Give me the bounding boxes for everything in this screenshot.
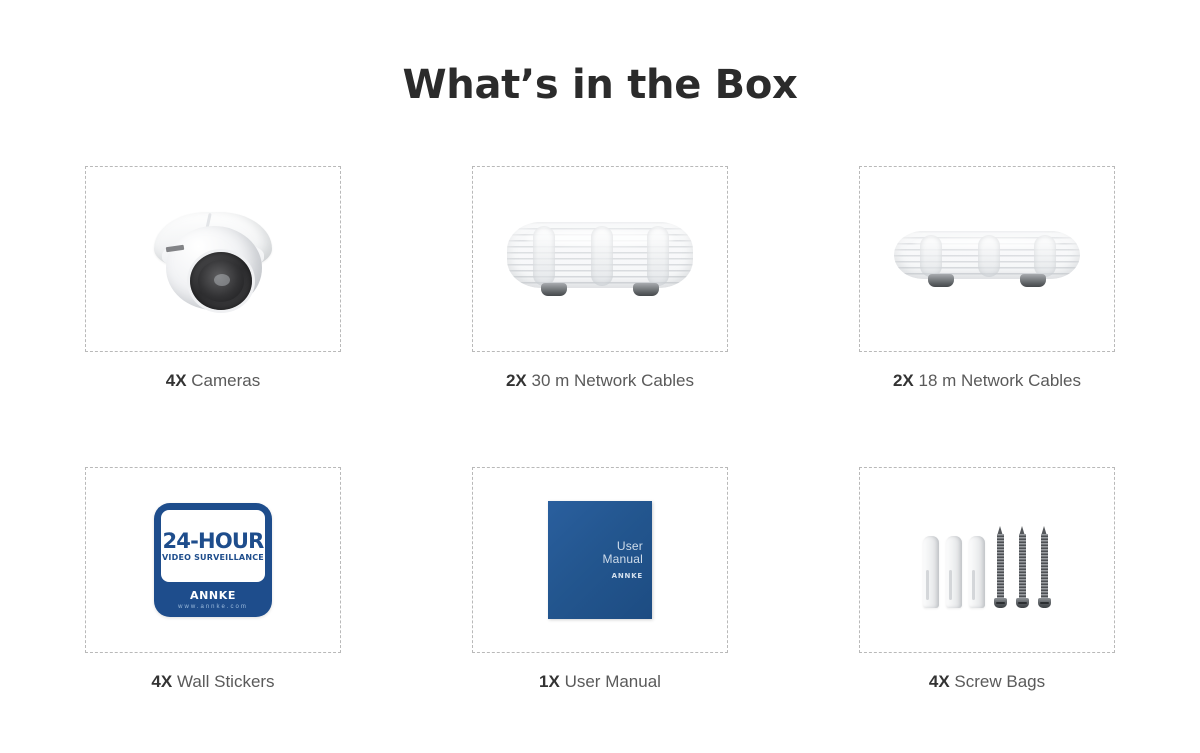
sticker-white-panel: 24-HOUR VIDEO SURVEILLANCE [161,510,265,582]
item-image-box-30m-cables [472,166,728,352]
camera-lens-ring [190,252,252,310]
sticker-footer-band: ANNKE www.annke.com [161,582,265,617]
item-quantity: 4X [929,672,950,691]
screws-and-anchors-icon [923,512,1051,608]
manual-title-line-1: User [617,540,643,553]
item-cell-cameras: 4X Cameras [84,166,342,391]
dome-camera-icon [148,200,278,318]
screw [1038,526,1051,608]
item-cell-user-manual: User Manual ANNKE 1X User Manual [471,467,729,692]
item-image-box-user-manual: User Manual ANNKE [472,467,728,653]
item-quantity: 2X [893,371,914,390]
camera-lens-inner [198,260,244,302]
screw-shaft [1019,534,1026,599]
wall-anchor [969,536,985,608]
screw-head [1016,598,1029,608]
sticker-subhead: VIDEO SURVEILLANCE [162,554,264,562]
user-manual-booklet-icon: User Manual ANNKE [548,501,652,619]
item-label: 30 m Network Cables [532,371,695,390]
network-cable-coil-icon [894,231,1080,287]
coil-wrap-strap [920,235,942,277]
coil-wrap-strap [591,226,613,286]
coil-wrap-strap [647,226,669,286]
wall-anchor [923,536,939,608]
network-cable-coil-icon [507,222,693,296]
whats-in-the-box-page: What’s in the Box [0,0,1200,753]
item-image-box-18m-cables [859,166,1115,352]
wall-anchor [946,536,962,608]
screw [1016,526,1029,608]
cable-connector [633,283,659,296]
item-quantity: 4X [151,672,172,691]
screw-head [1038,598,1051,608]
sticker-headline: 24-HOUR [163,531,264,552]
item-cell-wall-stickers: 24-HOUR VIDEO SURVEILLANCE ANNKE www.ann… [84,467,342,692]
cable-connector [928,274,954,287]
item-cell-30m-cables: 2X 30 m Network Cables [471,166,729,391]
item-cell-screw-bags: 4X Screw Bags [858,467,1116,692]
cable-connector [541,283,567,296]
item-caption-user-manual: 1X User Manual [539,672,661,692]
camera-lens-glint [214,274,230,286]
screw [994,526,1007,608]
item-cell-18m-cables: 2X 18 m Network Cables [858,166,1116,391]
item-label: Wall Stickers [177,672,275,691]
page-title: What’s in the Box [0,62,1200,108]
item-label: Cameras [191,371,260,390]
item-caption-wall-stickers: 4X Wall Stickers [151,672,274,692]
sticker-website-url: www.annke.com [178,604,248,610]
item-quantity: 2X [506,371,527,390]
item-caption-18m-cables: 2X 18 m Network Cables [893,371,1081,391]
item-caption-cameras: 4X Cameras [166,371,261,391]
wall-sticker-icon: 24-HOUR VIDEO SURVEILLANCE ANNKE www.ann… [154,503,272,617]
item-caption-30m-cables: 2X 30 m Network Cables [506,371,694,391]
cable-connector [1020,274,1046,287]
manual-title-line-2: Manual [602,553,643,566]
item-quantity: 1X [539,672,560,691]
coil-wrap-strap [1034,235,1056,277]
screw-head [994,598,1007,608]
items-grid: 4X Cameras [84,166,1116,692]
sticker-brand-logo: ANNKE [190,590,236,601]
item-quantity: 4X [166,371,187,390]
item-caption-screw-bags: 4X Screw Bags [929,672,1045,692]
item-image-box-screw-bags [859,467,1115,653]
item-image-box-cameras [85,166,341,352]
coil-wrap-strap [533,226,555,286]
item-image-box-wall-stickers: 24-HOUR VIDEO SURVEILLANCE ANNKE www.ann… [85,467,341,653]
screw-shaft [997,534,1004,599]
items-row-2: 24-HOUR VIDEO SURVEILLANCE ANNKE www.ann… [84,467,1116,692]
item-label: User Manual [565,672,661,691]
items-row-1: 4X Cameras [84,166,1116,391]
manual-brand-logo: ANNKE [612,572,643,580]
screw-shaft [1041,534,1048,599]
item-label: Screw Bags [954,672,1045,691]
item-label: 18 m Network Cables [919,371,1082,390]
coil-wrap-strap [978,235,1000,277]
